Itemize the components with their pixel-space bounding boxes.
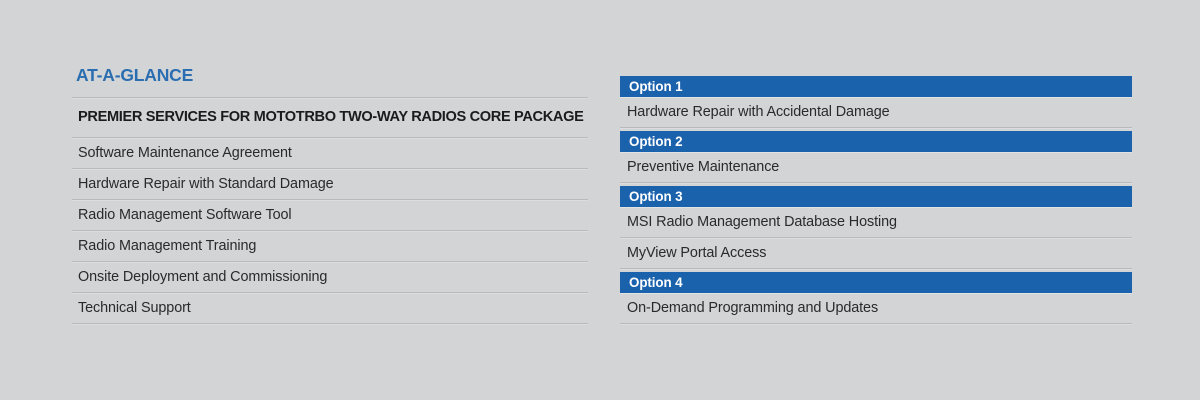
list-item: Onsite Deployment and Commissioning — [72, 262, 588, 292]
at-a-glance-sheet: AT-A-GLANCE PREMIER SERVICES FOR MOTOTRB… — [0, 0, 1200, 400]
core-package-title: PREMIER SERVICES FOR MOTOTRBO TWO-WAY RA… — [72, 98, 588, 137]
core-package-panel: AT-A-GLANCE PREMIER SERVICES FOR MOTOTRB… — [72, 64, 588, 324]
list-item: MSI Radio Management Database Hosting — [620, 207, 1132, 237]
option-header-4: Option 4 — [620, 272, 1132, 293]
divider-right-bottom — [620, 323, 1132, 324]
list-item: On-Demand Programming and Updates — [620, 293, 1132, 323]
list-item: Hardware Repair with Accidental Damage — [620, 97, 1132, 127]
list-item: Radio Management Training — [72, 231, 588, 261]
list-item: MyView Portal Access — [620, 238, 1132, 268]
list-item: Preventive Maintenance — [620, 152, 1132, 182]
list-item: Radio Management Software Tool — [72, 200, 588, 230]
divider-left-bottom — [72, 323, 588, 324]
option-header-3: Option 3 — [620, 186, 1132, 207]
option-header-2: Option 2 — [620, 131, 1132, 152]
list-item: Technical Support — [72, 293, 588, 323]
at-a-glance-heading: AT-A-GLANCE — [76, 64, 588, 86]
options-panel: Option 1 Hardware Repair with Accidental… — [620, 76, 1132, 324]
option-header-1: Option 1 — [620, 76, 1132, 97]
list-item: Hardware Repair with Standard Damage — [72, 169, 588, 199]
list-item: Software Maintenance Agreement — [72, 138, 588, 168]
